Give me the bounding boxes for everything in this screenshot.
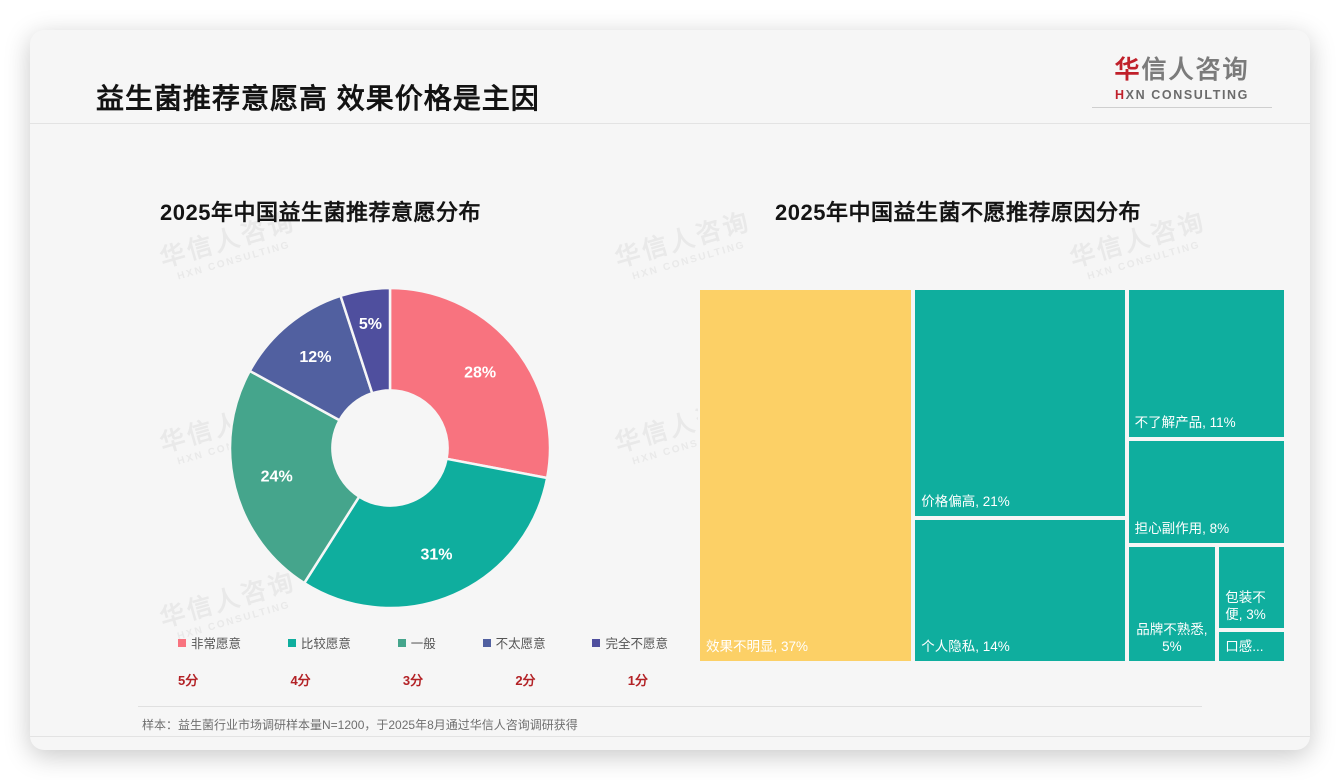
legend-label: 完全不愿意: [605, 633, 668, 652]
legend-item[interactable]: 一般: [398, 633, 436, 652]
donut-legend: 非常愿意比较愿意一般不太愿意完全不愿意: [178, 633, 668, 652]
treemap-cell[interactable]: 价格偏高, 21%: [913, 288, 1126, 518]
slide-footer: ©2025.10 HXR华信人咨询 www.hxrcon.com: [30, 736, 1310, 750]
treemap-cell[interactable]: 品牌不熟悉, 5%: [1127, 545, 1218, 663]
treemap-cell[interactable]: 不了解产品, 11%: [1127, 288, 1286, 439]
score-label: 2分: [515, 670, 535, 689]
legend-label: 一般: [411, 633, 436, 652]
donut-slice-label: 5%: [359, 316, 382, 333]
slide-card: 华信人咨询HXN CONSULTING 华信人咨询HXN CONSULTING …: [30, 30, 1310, 750]
legend-label: 比较愿意: [301, 633, 351, 652]
donut-chart: 28%31%24%12%5%: [225, 283, 555, 613]
watermark: 华信人咨询HXN CONSULTING: [612, 207, 759, 288]
brand-logo: 华信人咨询 HXN CONSULTING: [1092, 58, 1272, 108]
legend-swatch-icon: [288, 639, 296, 647]
treemap-cell-label: 不了解产品, 11%: [1129, 415, 1242, 437]
donut-slice[interactable]: [390, 288, 550, 478]
brand-logo-chinese: 华信人咨询: [1092, 58, 1272, 83]
brand-logo-english-rest: XN CONSULTING: [1126, 88, 1249, 102]
treemap-cell-label: 担心副作用, 8%: [1129, 521, 1236, 543]
right-chart-title: 2025年中国益生菌不愿推荐原因分布: [775, 195, 1141, 227]
treemap-cell[interactable]: 包装不便, 3%: [1217, 545, 1286, 630]
legend-item[interactable]: 不太愿意: [483, 633, 546, 652]
score-label: 4分: [290, 670, 310, 689]
footnote-divider: [138, 706, 1202, 707]
treemap-cell-label: 效果不明显, 37%: [700, 639, 814, 661]
footnote: 样本：益生菌行业市场调研样本量N=1200，于2025年8月通过华信人咨询调研获…: [142, 716, 578, 733]
score-label: 1分: [628, 670, 648, 689]
legend-item[interactable]: 完全不愿意: [592, 633, 668, 652]
donut-slice-label: 12%: [299, 349, 331, 366]
legend-swatch-icon: [178, 639, 186, 647]
legend-swatch-icon: [592, 639, 600, 647]
treemap-cell-label: 包装不便, 3%: [1219, 590, 1284, 629]
brand-logo-char-hua: 华: [1114, 56, 1141, 84]
brand-logo-char-h: H: [1115, 88, 1126, 102]
treemap-cell-label: 口感...: [1219, 639, 1269, 661]
slide-header: 益生菌推荐意愿高 效果价格是主因 华信人咨询 HXN CONSULTING: [30, 30, 1310, 124]
brand-logo-english: HXN CONSULTING: [1092, 88, 1272, 108]
donut-slice-label: 24%: [261, 468, 293, 485]
treemap-cell-label: 价格偏高, 21%: [915, 494, 1016, 516]
brand-logo-chinese-rest: 信人咨询: [1142, 56, 1250, 84]
donut-slice-label: 31%: [420, 547, 452, 564]
page-title: 益生菌推荐意愿高 效果价格是主因: [96, 77, 540, 117]
legend-label: 非常愿意: [191, 633, 241, 652]
treemap-cell[interactable]: 效果不明显, 37%: [698, 288, 913, 663]
treemap-cell[interactable]: 担心副作用, 8%: [1127, 439, 1286, 545]
treemap-chart: 效果不明显, 37%价格偏高, 21%个人隐私, 14%不了解产品, 11%担心…: [698, 288, 1286, 663]
legend-label: 不太愿意: [496, 633, 546, 652]
treemap-cell[interactable]: 口感...: [1217, 630, 1286, 663]
legend-item[interactable]: 非常愿意: [178, 633, 241, 652]
legend-item[interactable]: 比较愿意: [288, 633, 351, 652]
legend-swatch-icon: [398, 639, 406, 647]
score-label: 5分: [178, 670, 198, 689]
treemap-cell-label: 品牌不熟悉, 5%: [1129, 622, 1216, 661]
treemap-cell-label: 个人隐私, 14%: [915, 639, 1016, 661]
left-chart-title: 2025年中国益生菌推荐意愿分布: [160, 195, 481, 227]
treemap-cell[interactable]: 个人隐私, 14%: [913, 518, 1126, 663]
legend-swatch-icon: [483, 639, 491, 647]
score-label: 3分: [403, 670, 423, 689]
donut-slice-label: 28%: [464, 365, 496, 382]
donut-chart-svg: 28%31%24%12%5%: [225, 283, 555, 613]
score-row: 5分4分3分2分1分: [178, 670, 648, 689]
